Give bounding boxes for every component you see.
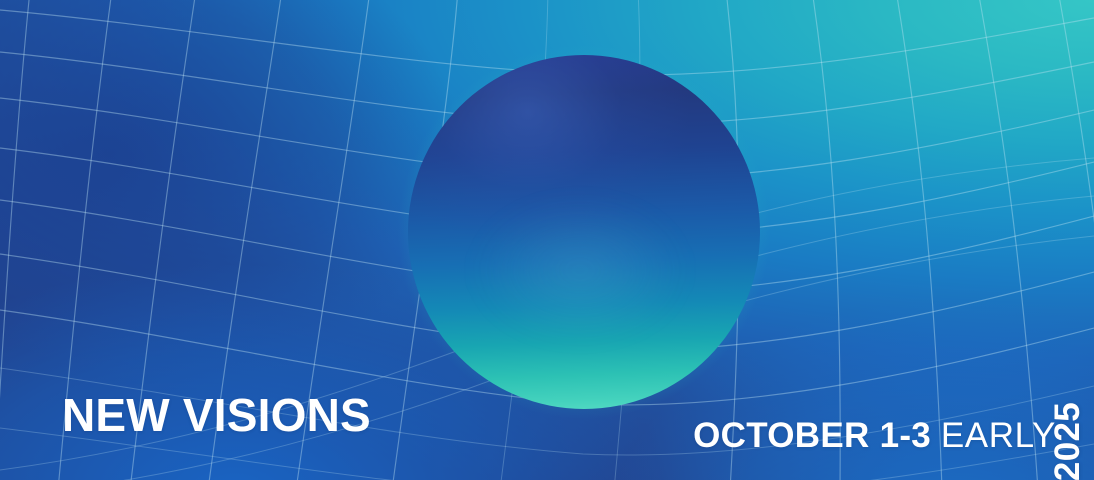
offer-year: 2025	[1048, 402, 1087, 480]
gradient-sphere	[408, 55, 760, 409]
page-title: NEW VISIONS FOR HARD REALITIES	[62, 258, 371, 480]
early-bird-offer-label: BIRD OFFER 2025	[1048, 402, 1088, 480]
event-date: OCTOBER 1-3 EARLY	[693, 416, 1056, 456]
early-label: EARLY	[941, 416, 1056, 455]
event-date-range: OCTOBER 1-3	[693, 416, 931, 455]
headline-line-1: NEW VISIONS	[62, 384, 371, 447]
event-promo-banner: NEW VISIONS FOR HARD REALITIES OCTOBER 1…	[0, 0, 1094, 480]
